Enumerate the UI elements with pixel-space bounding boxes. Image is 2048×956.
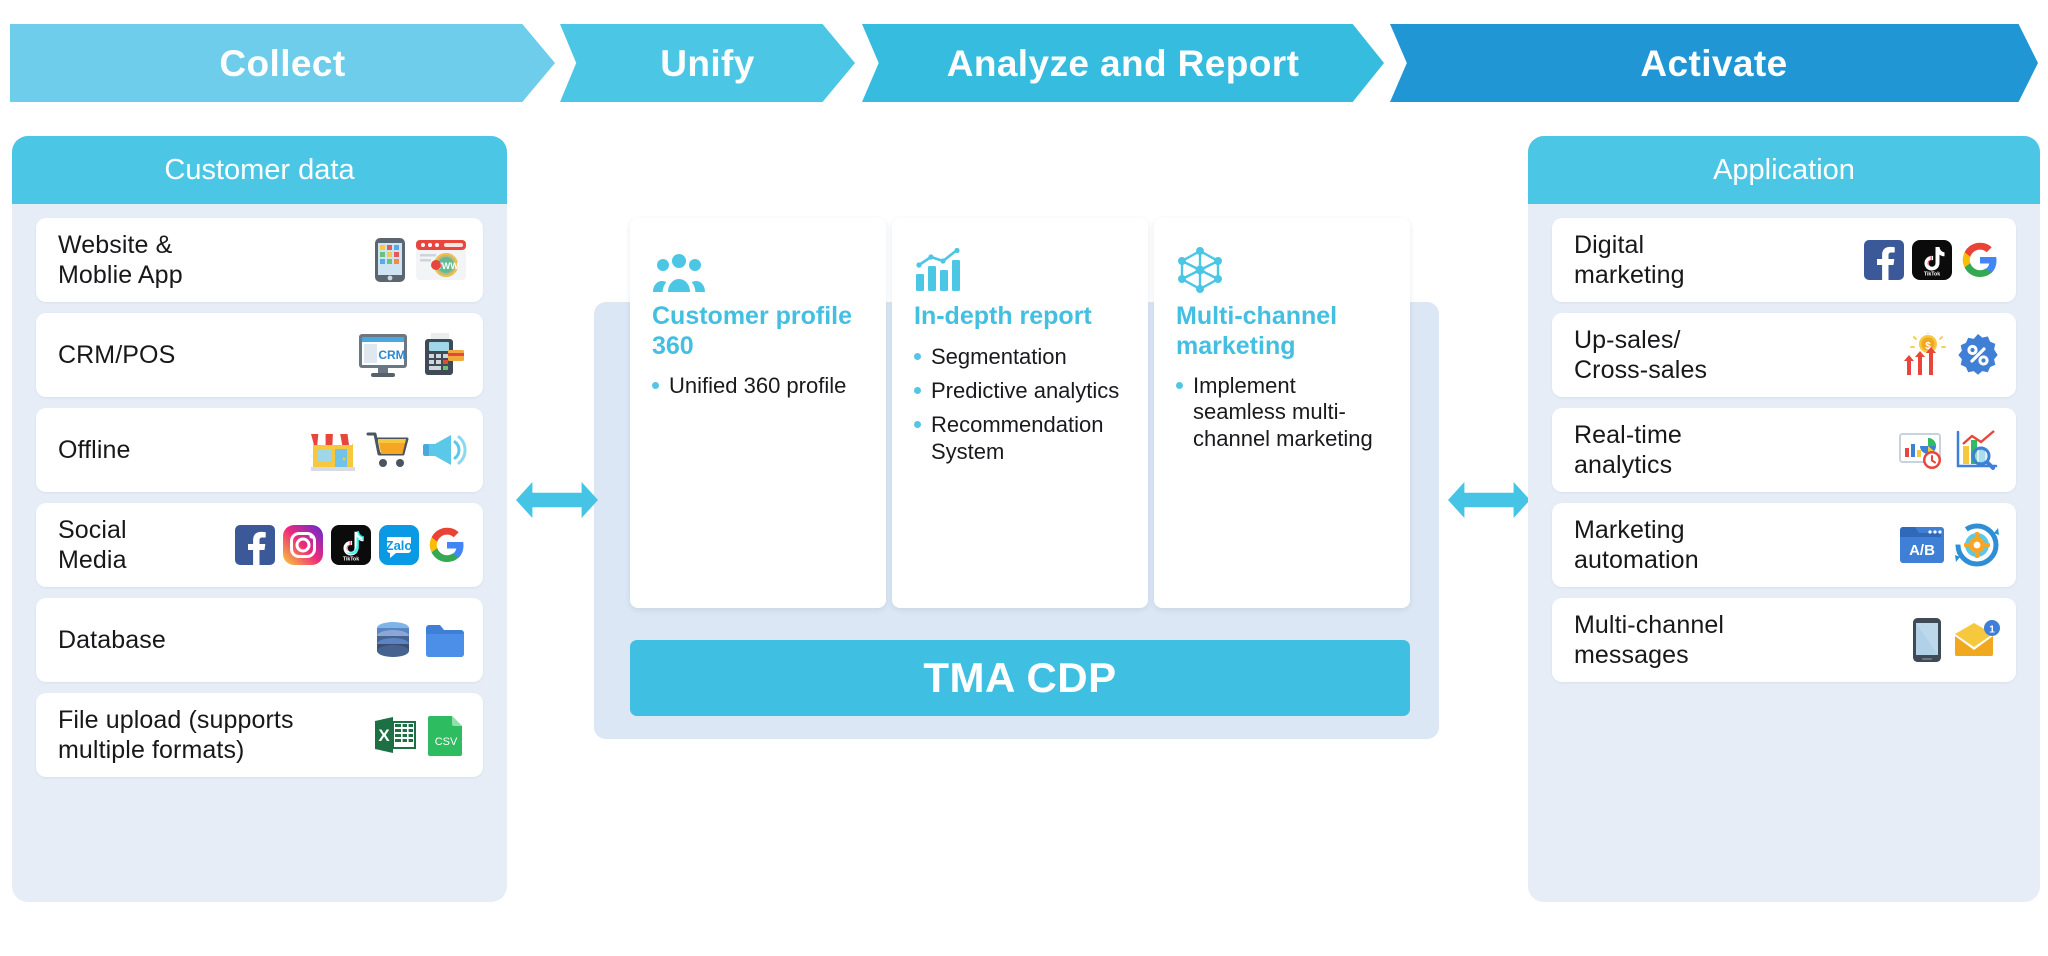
- capability-card-in-depth-report: In-depth report Segmentation Predictive …: [892, 218, 1148, 608]
- network-nodes-icon: [1176, 246, 1394, 294]
- customer-data-panel: Customer data Website &Moblie App WWW CR…: [12, 136, 507, 902]
- list-item: CRM/POS CRM: [36, 313, 483, 397]
- stage-label-analyze-and-report: Analyze and Report: [947, 45, 1300, 82]
- excel-file-icon: X: [373, 713, 417, 757]
- list-item: SocialMedia TikTok Zalo: [36, 503, 483, 587]
- smartphone-plain-icon: [1910, 617, 1944, 663]
- bullet-item: Predictive analytics: [914, 378, 1132, 404]
- google-icon: [1960, 240, 2000, 280]
- stage-label-unify: Unify: [660, 45, 755, 82]
- google-icon: [427, 525, 467, 565]
- envelope-badge-icon: 1: [1952, 618, 2000, 662]
- row-icons: TikTok Zalo: [225, 525, 467, 565]
- tiktok-icon: TikTok: [1912, 240, 1952, 280]
- svg-text:1: 1: [1989, 625, 1995, 636]
- row-icons: CRM: [347, 332, 467, 378]
- stage-chevron-activate: Activate: [1390, 24, 2038, 102]
- capability-bullets: Segmentation Predictive analytics Recomm…: [914, 344, 1132, 466]
- svg-text:CSV: CSV: [435, 736, 458, 748]
- money-growth-icon: $: [1902, 333, 1948, 377]
- row-icons: [299, 428, 467, 472]
- svg-text:A/B: A/B: [1909, 542, 1935, 559]
- list-item: File upload (supportsmultiple formats) X…: [36, 693, 483, 777]
- cdp-capability-cards: Customer profile 360 Unified 360 profile…: [630, 218, 1410, 608]
- storefront-icon: [309, 428, 357, 472]
- instagram-icon: [283, 525, 323, 565]
- row-icons: TikTok: [1854, 240, 2000, 280]
- csv-file-icon: CSV: [425, 713, 467, 757]
- bar-chart-trend-icon: [914, 246, 1132, 294]
- application-panel: Application Digitalmarketing TikTok Up-s…: [1528, 136, 2040, 902]
- application-rows: Digitalmarketing TikTok Up-sales/Cross-s…: [1528, 204, 2040, 711]
- stage-chevron-unify: Unify: [560, 24, 855, 102]
- shopping-cart-icon: [365, 428, 413, 472]
- people-group-icon: [652, 246, 870, 294]
- double-arrow-icon-right: [1448, 482, 1530, 518]
- folder-icon: [423, 618, 467, 662]
- svg-text:X: X: [378, 726, 390, 745]
- row-icons: $: [1892, 333, 2000, 377]
- list-item: Database: [36, 598, 483, 682]
- bullet-item: Implement seamless multi-channel marketi…: [1176, 373, 1394, 452]
- database-cylinder-icon: [371, 618, 415, 662]
- row-icons: A/B: [1888, 523, 2000, 567]
- ab-test-icon: A/B: [1898, 523, 1946, 567]
- pos-terminal-icon: [417, 332, 467, 378]
- stage-chevron-collect: Collect: [10, 24, 555, 102]
- list-item: Digitalmarketing TikTok: [1552, 218, 2016, 302]
- web-browser-www-icon: WWW: [415, 238, 467, 282]
- row-label-database: Database: [58, 625, 166, 656]
- row-label-website-mobile-app: Website &Moblie App: [58, 230, 183, 291]
- row-icons: WWW: [363, 237, 467, 283]
- bullet-item: Unified 360 profile: [652, 373, 870, 399]
- chart-search-icon: [1954, 428, 2000, 472]
- row-icons: [1888, 428, 2000, 472]
- row-label-digital-marketing: Digitalmarketing: [1574, 230, 1685, 291]
- stage-label-collect: Collect: [219, 45, 345, 82]
- row-label-marketing-automation: Marketingautomation: [1574, 515, 1699, 576]
- application-panel-title: Application: [1528, 136, 2040, 204]
- list-item: Real-timeanalytics: [1552, 408, 2016, 492]
- tiktok-icon: TikTok: [331, 525, 371, 565]
- zalo-icon: Zalo: [379, 525, 419, 565]
- svg-text:Zalo: Zalo: [386, 538, 413, 553]
- facebook-icon: [1864, 240, 1904, 280]
- stage-chevron-analyze-and-report: Analyze and Report: [862, 24, 1384, 102]
- svg-text:TikTok: TikTok: [343, 557, 359, 563]
- capability-bullets: Unified 360 profile: [652, 373, 870, 399]
- row-label-up-sales-cross-sales: Up-sales/Cross-sales: [1574, 325, 1707, 386]
- megaphone-icon: [421, 428, 467, 472]
- list-item: Up-sales/Cross-sales $: [1552, 313, 2016, 397]
- stage-label-activate: Activate: [1640, 45, 1787, 82]
- diagram-canvas: Collect Unify Analyze and Report Activat…: [0, 0, 2048, 956]
- list-item: Marketingautomation A/B: [1552, 503, 2016, 587]
- list-item: Offline: [36, 408, 483, 492]
- customer-data-panel-title: Customer data: [12, 136, 507, 204]
- facebook-icon: [235, 525, 275, 565]
- double-arrow-icon-left: [516, 482, 598, 518]
- row-label-file-upload: File upload (supportsmultiple formats): [58, 705, 294, 766]
- dashboard-clock-icon: [1898, 428, 1946, 472]
- bullet-item: Recommendation System: [914, 412, 1132, 465]
- row-icons: X CSV: [363, 713, 467, 757]
- capability-title: Multi-channel marketing: [1176, 302, 1394, 361]
- svg-text:TikTok: TikTok: [1924, 272, 1940, 278]
- capability-card-multi-channel-marketing: Multi-channel marketing Implement seamle…: [1154, 218, 1410, 608]
- list-item: Multi-channelmessages 1: [1552, 598, 2016, 682]
- row-label-offline: Offline: [58, 435, 131, 466]
- row-icons: [361, 618, 467, 662]
- customer-data-rows: Website &Moblie App WWW CRM/POS CRM Offl…: [12, 204, 507, 806]
- capability-bullets: Implement seamless multi-channel marketi…: [1176, 373, 1394, 452]
- row-label-real-time-analytics: Real-timeanalytics: [1574, 420, 1682, 481]
- discount-percent-icon: [1956, 333, 2000, 377]
- svg-text:CRM: CRM: [378, 348, 405, 362]
- row-label-social-media: SocialMedia: [58, 515, 127, 576]
- row-label-crm-pos: CRM/POS: [58, 340, 175, 371]
- row-label-multi-channel-messages: Multi-channelmessages: [1574, 610, 1724, 671]
- bullet-item: Segmentation: [914, 344, 1132, 370]
- capability-title: Customer profile 360: [652, 302, 870, 361]
- row-icons: 1: [1900, 617, 2000, 663]
- platform-name-bar: TMA CDP: [630, 640, 1410, 716]
- smartphone-icon: [373, 237, 407, 283]
- list-item: Website &Moblie App WWW: [36, 218, 483, 302]
- automation-gear-icon: [1954, 523, 2000, 567]
- capability-card-customer-profile-360: Customer profile 360 Unified 360 profile: [630, 218, 886, 608]
- crm-monitor-icon: CRM: [357, 332, 409, 378]
- capability-title: In-depth report: [914, 302, 1132, 332]
